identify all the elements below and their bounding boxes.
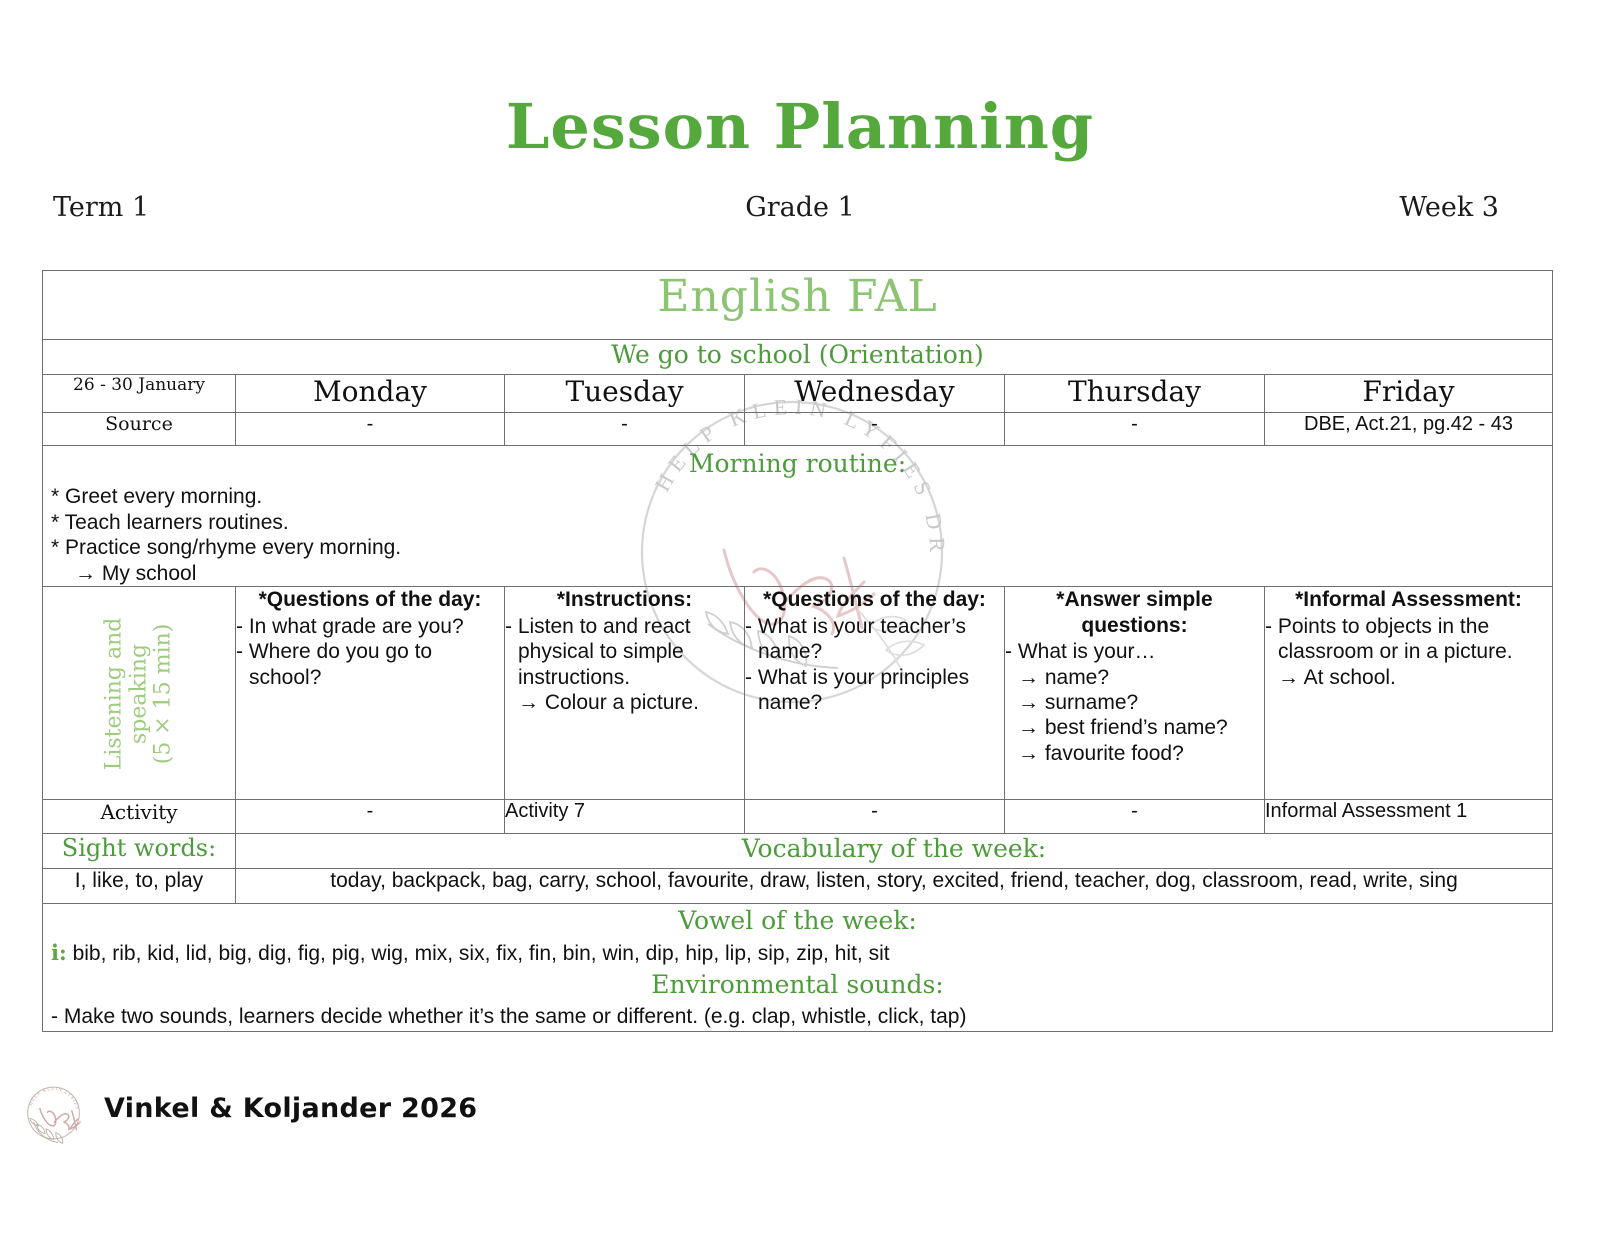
activity-tuesday: Activity 7 (505, 800, 745, 834)
lesson-line: - What is your teacher’s name? (745, 614, 1004, 665)
vowel-words: bib, rib, kid, lid, big, dig, fig, pig, … (73, 942, 890, 965)
morning-item: → My school (51, 561, 1552, 587)
theme-title: We go to school (Orientation) (611, 340, 983, 369)
morning-item: * Greet every morning. (51, 484, 1552, 510)
morning-routine-row: Morning routine: * Greet every morning. … (43, 446, 1553, 587)
vowel-words-line: i: bib, rib, kid, lid, big, dig, fig, pi… (43, 938, 1552, 968)
lesson-cell-monday: *Questions of the day: - In what grade a… (236, 587, 505, 800)
lesson-heading: *Instructions: (505, 587, 744, 612)
lesson-line: - What is your principles name? (745, 665, 1004, 716)
activity-row: Activity - Activity 7 - - Informal Asses… (43, 800, 1553, 834)
vowel-cell: Vowel of the week: i: bib, rib, kid, lid… (43, 904, 1553, 1032)
lesson-line: - In what grade are you? (236, 614, 504, 639)
activity-friday: Informal Assessment 1 (1265, 800, 1553, 834)
vowel-title: Vowel of the week: (43, 904, 1552, 938)
source-monday: - (236, 413, 505, 446)
vowel-row: Vowel of the week: i: bib, rib, kid, lid… (43, 904, 1553, 1032)
day-header-friday: Friday (1265, 375, 1553, 413)
lesson-line: - Listen to and react physical to simple… (505, 614, 744, 690)
lesson-line: → name? (1018, 665, 1264, 690)
lesson-line: - Where do you go to school? (236, 639, 504, 690)
day-header-row: 26 - 30 January Monday Tuesday Wednesday… (43, 375, 1553, 413)
lesson-heading: *Questions of the day: (236, 587, 504, 612)
skill-label-line: speaking (127, 617, 152, 770)
vocabulary-title: Vocabulary of the week: (236, 834, 1553, 869)
skill-label-line: Listening and (103, 617, 128, 770)
lesson-plan-table: English FAL We go to school (Orientation… (42, 270, 1553, 1032)
source-label: Source (43, 413, 236, 446)
lesson-line: → surname? (1018, 690, 1264, 715)
skill-label-rotated: Listening and speaking (5 × 15 min) (43, 587, 236, 799)
lesson-line: - Points to objects in the classroom or … (1265, 614, 1552, 665)
sight-words-label: Sight words: (43, 834, 236, 869)
source-tuesday: - (505, 413, 745, 446)
lesson-heading: *Questions of the day: (745, 587, 1004, 612)
activity-label: Activity (43, 800, 236, 834)
environmental-sounds-title: Environmental sounds: (43, 968, 1552, 1002)
week-label: Week 3 (1399, 192, 1499, 223)
lesson-content-row: Listening and speaking (5 × 15 min) *Que… (43, 587, 1553, 800)
activity-thursday: - (1005, 800, 1265, 834)
activity-monday: - (236, 800, 505, 834)
source-friday: DBE, Act.21, pg.42 - 43 (1265, 413, 1553, 446)
vocabulary-value: today, backpack, bag, carry, school, fav… (236, 869, 1553, 904)
theme-row: We go to school (Orientation) (43, 340, 1553, 375)
sight-words-title-row: Sight words: Vocabulary of the week: (43, 834, 1553, 869)
morning-routine-title: Morning routine: (43, 446, 1552, 478)
date-range-cell: 26 - 30 January (43, 375, 236, 413)
subject-title: English FAL (657, 271, 937, 322)
lesson-line: → favourite food? (1018, 741, 1264, 766)
lesson-heading: *Informal Assessment: (1265, 587, 1552, 612)
morning-item: * Teach learners routines. (51, 510, 1552, 536)
subject-cell: English FAL (43, 271, 1553, 340)
lesson-cell-thursday: *Answer simple questions: - What is your… (1005, 587, 1265, 800)
lesson-cell-wednesday: *Questions of the day: - What is your te… (745, 587, 1005, 800)
svg-text:HELP KLEIN LYFIES DROOM: HELP KLEIN LYFIES DROOM (14, 1078, 79, 1113)
skill-label-line: (5 × 15 min) (152, 617, 177, 770)
lesson-line: → At school. (1278, 665, 1552, 690)
day-header-tuesday: Tuesday (505, 375, 745, 413)
day-header-monday: Monday (236, 375, 505, 413)
lesson-line: → best friend’s name? (1018, 715, 1264, 740)
morning-routine-cell: Morning routine: * Greet every morning. … (43, 446, 1553, 587)
lesson-heading: *Answer simple questions: (1005, 587, 1264, 638)
footer-credit: Vinkel & Koljander 2026 (104, 1093, 477, 1124)
lesson-cell-tuesday: *Instructions: - Listen to and react phy… (505, 587, 745, 800)
source-thursday: - (1005, 413, 1265, 446)
page-title: Lesson Planning (0, 96, 1600, 158)
lesson-line: - What is your… (1005, 639, 1264, 664)
skill-label-cell: Listening and speaking (5 × 15 min) (43, 587, 236, 800)
lesson-cell-friday: *Informal Assessment: - Points to object… (1265, 587, 1553, 800)
source-row: Source - - - - DBE, Act.21, pg.42 - 43 (43, 413, 1553, 446)
brand-logo: HELP KLEIN LYFIES DROOM (14, 1078, 90, 1154)
lesson-line: → Colour a picture. (518, 690, 744, 715)
vowel-key: i: (51, 940, 67, 965)
source-wednesday: - (745, 413, 1005, 446)
day-header-thursday: Thursday (1005, 375, 1265, 413)
grade-label: Grade 1 (0, 192, 1600, 223)
morning-routine-list: * Greet every morning. * Teach learners … (43, 478, 1552, 586)
vocabulary-row: I, like, to, play today, backpack, bag, … (43, 869, 1553, 904)
morning-item: * Practice song/rhyme every morning. (51, 535, 1552, 561)
subject-row: English FAL (43, 271, 1553, 340)
day-header-wednesday: Wednesday (745, 375, 1005, 413)
environmental-sounds-value: - Make two sounds, learners decide wheth… (43, 1002, 1552, 1031)
theme-cell: We go to school (Orientation) (43, 340, 1553, 375)
sight-words-value: I, like, to, play (43, 869, 236, 904)
activity-wednesday: - (745, 800, 1005, 834)
